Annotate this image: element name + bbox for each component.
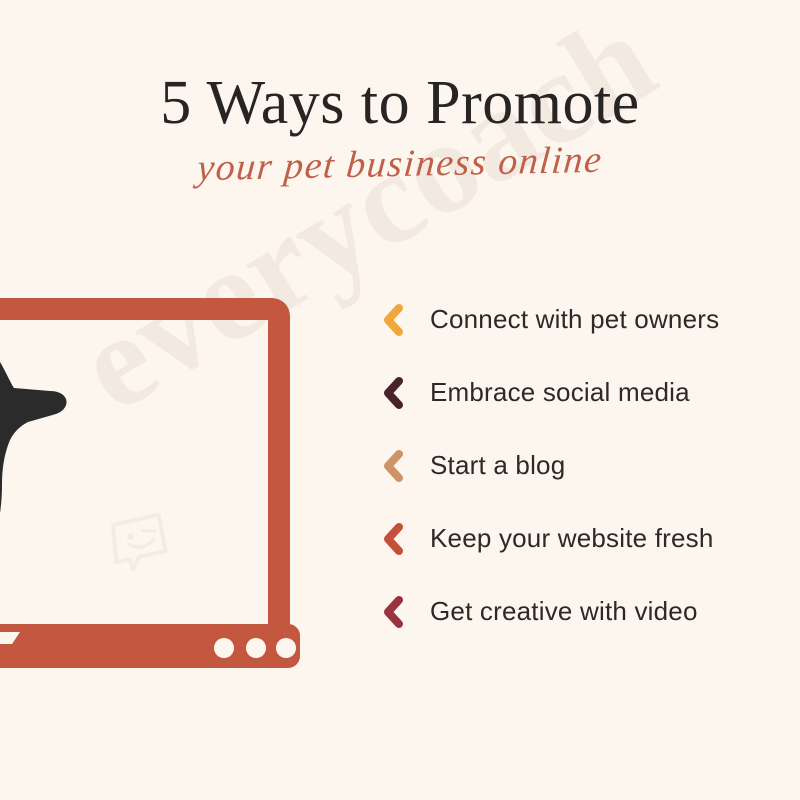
list-item-label: Embrace social media bbox=[430, 378, 690, 408]
chevron-left-icon bbox=[380, 376, 406, 410]
chevron-left-icon bbox=[380, 303, 406, 337]
chevron-left-icon bbox=[380, 595, 406, 629]
laptop-screen-frame bbox=[0, 298, 290, 624]
laptop-base bbox=[0, 624, 300, 668]
laptop-foot-dot bbox=[214, 638, 234, 658]
page-subtitle: your pet business online bbox=[0, 136, 800, 195]
list-item[interactable]: Embrace social media bbox=[380, 368, 780, 417]
benefits-list: Connect with pet owners Embrace social m… bbox=[380, 295, 780, 636]
list-item[interactable]: Start a blog bbox=[380, 441, 780, 490]
laptop-foot-dot bbox=[246, 638, 266, 658]
list-item-label: Get creative with video bbox=[430, 597, 698, 627]
poster-canvas: everycoach 5 Ways to Promote your pet bu… bbox=[0, 0, 800, 800]
list-item-label: Start a blog bbox=[430, 451, 565, 481]
page-title: 5 Ways to Promote bbox=[0, 72, 800, 134]
list-item[interactable]: Connect with pet owners bbox=[380, 295, 780, 344]
chevron-left-icon bbox=[380, 449, 406, 483]
heading-block: 5 Ways to Promote your pet business onli… bbox=[0, 0, 800, 186]
chevron-left-icon bbox=[380, 522, 406, 556]
list-item-label: Connect with pet owners bbox=[430, 305, 719, 335]
list-item-label: Keep your website fresh bbox=[430, 524, 714, 554]
laptop-with-dog-illustration bbox=[0, 272, 360, 682]
dog-silhouette-icon bbox=[0, 315, 67, 650]
list-item[interactable]: Keep your website fresh bbox=[380, 514, 780, 563]
list-item[interactable]: Get creative with video bbox=[380, 587, 780, 636]
laptop-foot-dot bbox=[276, 638, 296, 658]
